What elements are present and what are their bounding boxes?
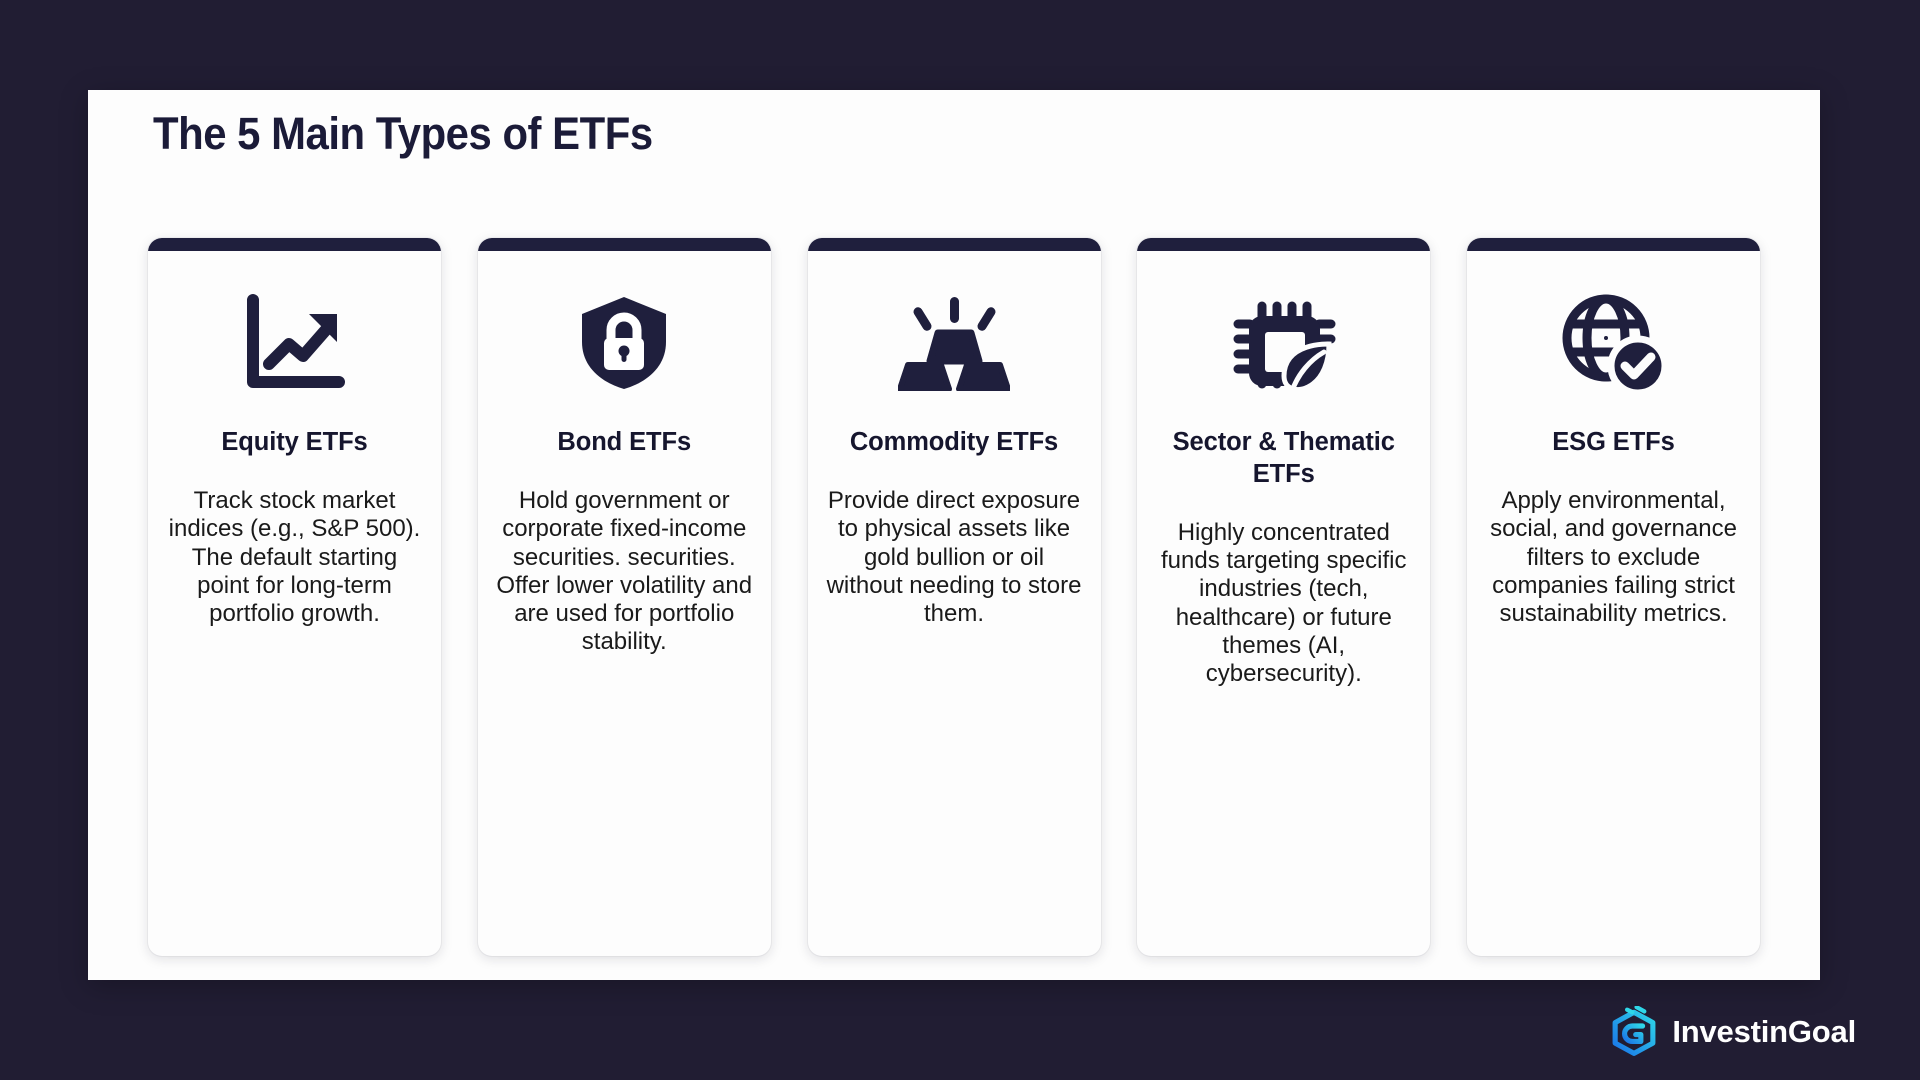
card-title: Sector & Thematic ETFs	[1137, 427, 1430, 491]
card-description: Apply environmental, social, and governa…	[1467, 487, 1760, 659]
etf-type-card-list: Equity ETFs Track stock market indices (…	[148, 238, 1760, 956]
investingoal-logo-text: InvestinGoal	[1672, 1014, 1856, 1050]
card-title: Equity ETFs	[205, 427, 383, 459]
content-panel: The 5 Main Types of ETFs Equity ETFs Tra…	[88, 90, 1820, 980]
card-description: Hold government or corporate fixed-incom…	[478, 487, 771, 687]
card-accent-bar	[478, 238, 771, 251]
card-esg-etfs[interactable]: ESG ETFs Apply environmental, social, an…	[1467, 238, 1760, 956]
card-title: Bond ETFs	[541, 427, 707, 459]
card-accent-bar	[1467, 238, 1760, 251]
card-commodity-etfs[interactable]: Commodity ETFs Provide direct exposure t…	[808, 238, 1101, 956]
shield-lock-icon	[578, 295, 670, 391]
investingoal-hex-g-icon	[1610, 1006, 1658, 1058]
gold-bars-icon	[898, 295, 1010, 391]
investingoal-logo[interactable]: InvestinGoal	[1610, 1006, 1856, 1058]
card-title: Commodity ETFs	[834, 427, 1074, 459]
globe-check-icon	[1562, 295, 1666, 391]
page-title: The 5 Main Types of ETFs	[153, 108, 653, 160]
line-chart-up-icon	[243, 295, 347, 391]
card-equity-etfs[interactable]: Equity ETFs Track stock market indices (…	[148, 238, 441, 956]
card-accent-bar	[148, 238, 441, 251]
card-bond-etfs[interactable]: Bond ETFs Hold government or corporate f…	[478, 238, 771, 956]
card-title: ESG ETFs	[1536, 427, 1690, 459]
card-accent-bar	[808, 238, 1101, 251]
card-accent-bar	[1137, 238, 1430, 251]
card-description: Track stock market indices (e.g., S&P 50…	[148, 487, 441, 659]
card-description: Highly concentrated funds targeting spec…	[1137, 519, 1430, 719]
card-description: Provide direct exposure to physical asse…	[808, 487, 1101, 659]
chip-leaf-icon	[1232, 295, 1336, 391]
card-sector-thematic-etfs[interactable]: Sector & Thematic ETFs Highly concentrat…	[1137, 238, 1430, 956]
